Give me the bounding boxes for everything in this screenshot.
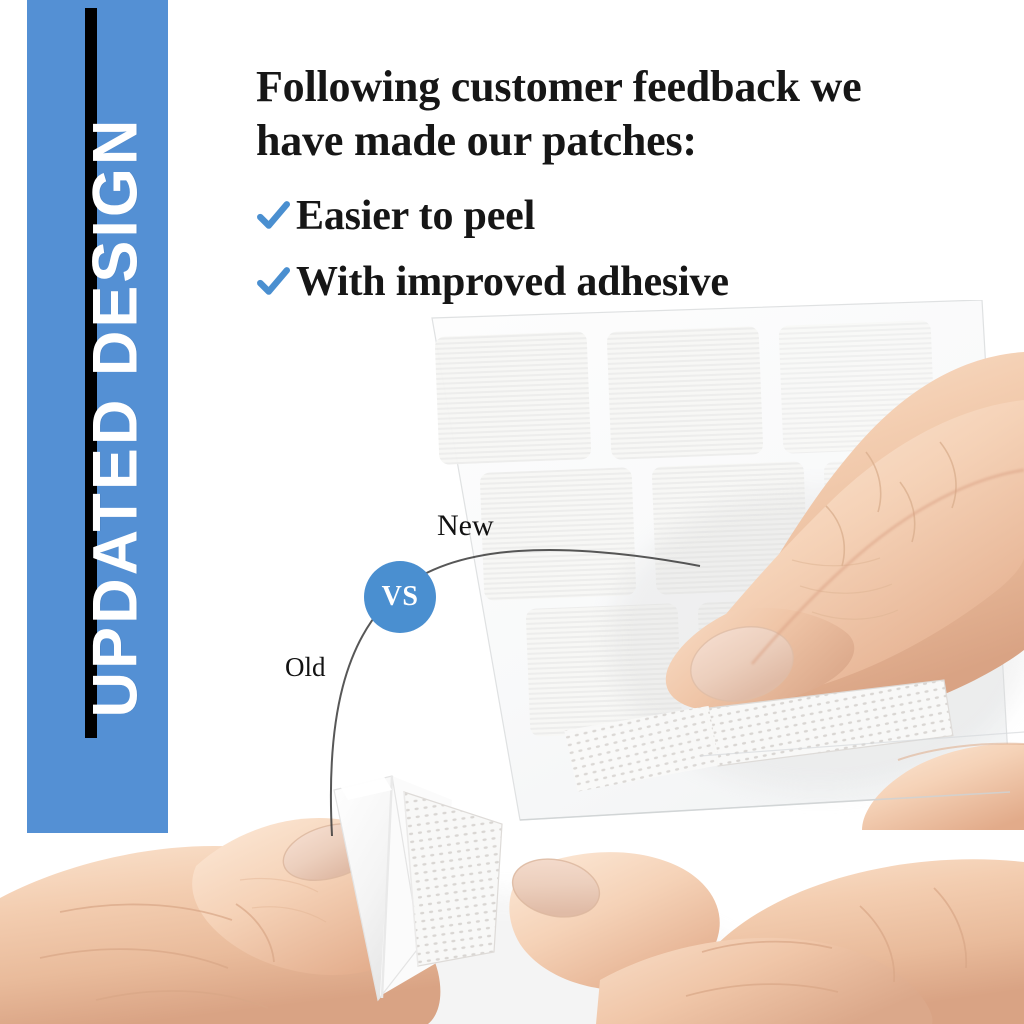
vs-badge: VS [364,561,436,633]
benefits-list: Easier to peel With improved adhesive [256,188,956,320]
label-old: Old [285,652,326,683]
list-item-label: With improved adhesive [296,261,729,303]
check-icon [256,199,290,233]
list-item: Easier to peel [256,188,956,244]
infographic-canvas: UPDATED DESIGN Following customer feedba… [0,0,1024,1024]
list-item-label: Easier to peel [296,195,535,237]
banner-text-wrap: UPDATED DESIGN [27,0,168,833]
list-item: With improved adhesive [256,254,956,310]
check-icon [256,265,290,299]
updated-design-banner: UPDATED DESIGN [27,0,168,833]
page-headline: Following customer feedback we have made… [256,60,946,167]
label-new: New [437,509,494,543]
banner-accent-rule [85,8,97,738]
